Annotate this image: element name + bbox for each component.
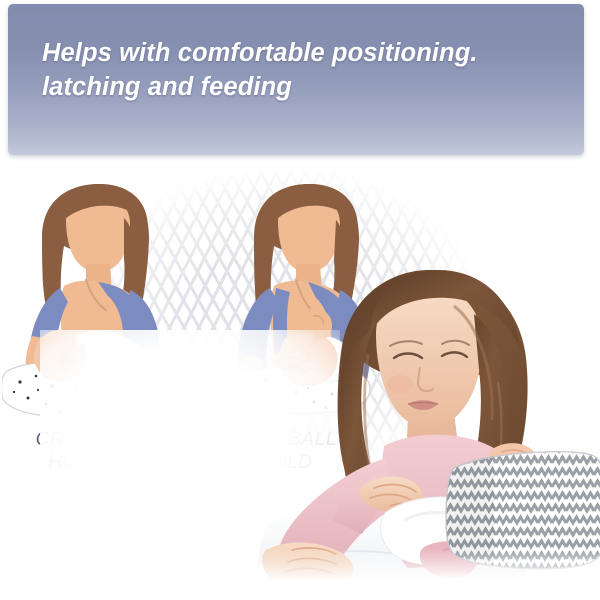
- illustration-cradle-hold: [2, 176, 192, 426]
- photo-mother-and-baby: [258, 262, 600, 600]
- banner-headline: Helps with comfortable positioning. latc…: [42, 36, 562, 104]
- product-feature-image: Helps with comfortable positioning. latc…: [0, 0, 600, 600]
- headline-banner: Helps with comfortable positioning. latc…: [8, 4, 584, 155]
- cradle-hold-figure: [2, 176, 192, 426]
- label-cradle-hold: CRADLE HOLD: [8, 428, 144, 474]
- nursing-photo: [258, 262, 600, 600]
